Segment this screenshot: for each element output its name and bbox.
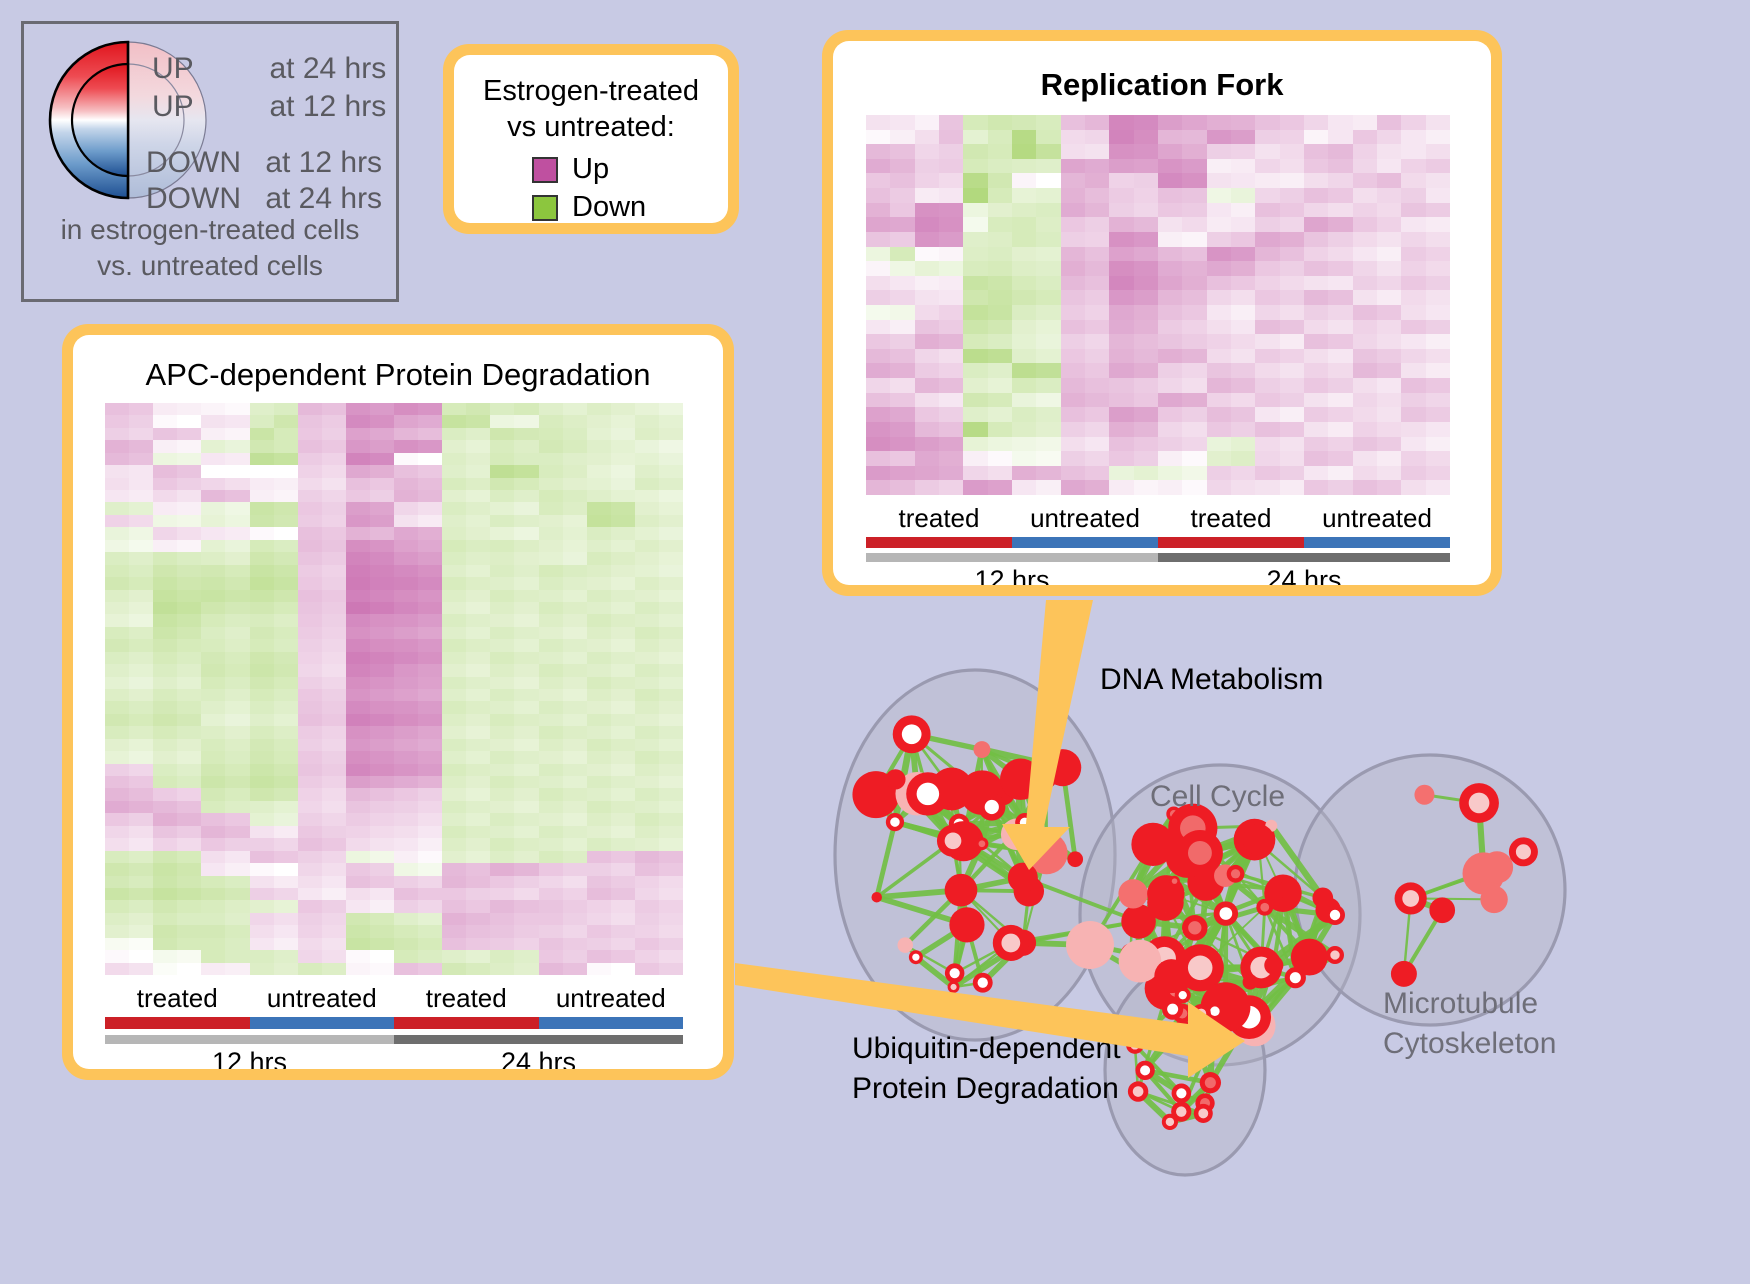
heatmap-cell: [1085, 276, 1109, 291]
heatmap-cell: [963, 188, 987, 203]
heatmap-cell: [1109, 188, 1133, 203]
heatmap-cell: [1328, 173, 1352, 188]
apc-heatmap: [105, 403, 683, 975]
heatmap-cell: [1158, 130, 1182, 145]
heatmap-cell: [490, 614, 514, 626]
heatmap-cell: [963, 247, 987, 262]
heatmap-cell: [225, 963, 249, 975]
heatmap-cell: [250, 428, 274, 440]
network-node[interactable]: [945, 874, 978, 907]
heatmap-cell: [1426, 305, 1450, 320]
heatmap-cell: [129, 776, 153, 788]
network-node[interactable]: [1243, 824, 1274, 855]
heatmap-cell: [201, 900, 225, 912]
heatmap-cell: [394, 739, 418, 751]
heatmap-cell: [988, 349, 1012, 364]
heatmap-cell: [394, 552, 418, 564]
heatmap-cell: [346, 813, 370, 825]
heatmap-cell: [1085, 437, 1109, 452]
heatmap-cell: [466, 627, 490, 639]
heatmap-cell: [418, 876, 442, 888]
heatmap-cell: [490, 739, 514, 751]
heatmap-cell: [1109, 437, 1133, 452]
heatmap-cell: [346, 701, 370, 713]
heatmap-cell: [915, 451, 939, 466]
heatmap-cell: [1231, 159, 1255, 174]
heatmap-cell: [1280, 159, 1304, 174]
heatmap-cell: [201, 577, 225, 589]
heatmap-cell: [201, 950, 225, 962]
network-node-core: [1198, 1108, 1208, 1118]
heatmap-cell: [563, 565, 587, 577]
heatmap-cell: [1158, 437, 1182, 452]
heatmap-cell: [1231, 407, 1255, 422]
heatmap-cell: [635, 677, 659, 689]
heatmap-cell: [1012, 363, 1036, 378]
heatmap-cell: [1304, 349, 1328, 364]
heatmap-cell: [394, 453, 418, 465]
heatmap-cell: [539, 776, 563, 788]
heatmap-cell: [635, 403, 659, 415]
heatmap-cell: [225, 776, 249, 788]
heatmap-cell: [963, 261, 987, 276]
network-node[interactable]: [1044, 749, 1081, 786]
heatmap-cell: [1012, 378, 1036, 393]
heatmap-cell: [1109, 363, 1133, 378]
heatmap-cell: [659, 403, 683, 415]
network-node-core: [1130, 1040, 1139, 1049]
heatmap-cell: [298, 577, 322, 589]
heatmap-cell: [1377, 115, 1401, 130]
network-node[interactable]: [871, 892, 881, 902]
heatmap-cell: [539, 826, 563, 838]
heatmap-cell: [1182, 115, 1206, 130]
heatmap-cell: [635, 527, 659, 539]
heatmap-cell: [659, 764, 683, 776]
heatmap-cell: [659, 577, 683, 589]
network-node-core: [1402, 890, 1419, 907]
heatmap-cell: [1109, 203, 1133, 218]
heatmap-cell: [611, 478, 635, 490]
heatmap-cell: [274, 726, 298, 738]
heatmap-cell: [370, 826, 394, 838]
heatmap-cell: [939, 290, 963, 305]
heatmap-cell: [1158, 349, 1182, 364]
heatmap-cell: [322, 764, 346, 776]
heatmap-cell: [1109, 480, 1133, 495]
heatmap-cell: [1426, 115, 1450, 130]
heatmap-cell: [635, 552, 659, 564]
heatmap-cell: [490, 577, 514, 589]
heatmap-cell: [225, 726, 249, 738]
heatmap-cell: [1255, 305, 1279, 320]
network-node[interactable]: [1067, 851, 1083, 867]
heatmap-cell: [466, 925, 490, 937]
heatmap-cell: [153, 403, 177, 415]
heatmap-cell: [298, 863, 322, 875]
heatmap-cell: [1304, 159, 1328, 174]
heatmap-cell: [274, 863, 298, 875]
heatmap-cell: [1207, 276, 1231, 291]
heatmap-cell: [1012, 334, 1036, 349]
heatmap-cell: [394, 565, 418, 577]
heatmap-cell: [442, 739, 466, 751]
heatmap-cell: [250, 714, 274, 726]
heatmap-cell: [442, 900, 466, 912]
heatmap-cell: [587, 900, 611, 912]
heatmap-cell: [201, 540, 225, 552]
heatmap-cell: [1158, 378, 1182, 393]
heatmap-cell: [250, 515, 274, 527]
heatmap-cell: [274, 925, 298, 937]
heatmap-cell: [1255, 378, 1279, 393]
heatmap-cell: [322, 552, 346, 564]
heatmap-cell: [225, 838, 249, 850]
heatmap-cell: [611, 925, 635, 937]
heatmap-cell: [1036, 144, 1060, 159]
heatmap-cell: [346, 428, 370, 440]
heatmap-cell: [1280, 130, 1304, 145]
heatmap-cell: [225, 403, 249, 415]
heatmap-cell: [1182, 290, 1206, 305]
legend-item-down: Down: [532, 191, 646, 223]
heatmap-cell: [1353, 378, 1377, 393]
network-node[interactable]: [1000, 759, 1041, 800]
heatmap-cell: [1085, 188, 1109, 203]
heatmap-cell: [866, 203, 890, 218]
heatmap-cell: [1231, 480, 1255, 495]
heatmap-cell: [563, 776, 587, 788]
key-time-2: at 12 hrs: [265, 146, 382, 179]
heatmap-cell: [105, 813, 129, 825]
network-node[interactable]: [949, 907, 984, 942]
heatmap-cell: [539, 689, 563, 701]
heatmap-cell: [1426, 480, 1450, 495]
heatmap-cell: [177, 900, 201, 912]
heatmap-cell: [587, 478, 611, 490]
heatmap-cell: [370, 913, 394, 925]
heatmap-cell: [1304, 407, 1328, 422]
heatmap-cell: [539, 515, 563, 527]
legend-swatch-up: [532, 157, 558, 183]
heatmap-cell: [250, 925, 274, 937]
heatmap-cell: [1158, 466, 1182, 481]
heatmap-cell: [1377, 144, 1401, 159]
heatmap-cell: [370, 677, 394, 689]
time-label-0: 12 hrs: [866, 565, 1158, 585]
heatmap-cell: [322, 639, 346, 651]
heatmap-cell: [201, 627, 225, 639]
heatmap-cell: [890, 378, 914, 393]
heatmap-cell: [866, 276, 890, 291]
heatmap-cell: [611, 876, 635, 888]
heatmap-cell: [1280, 437, 1304, 452]
heatmap-cell: [201, 590, 225, 602]
heatmap-cell: [1353, 349, 1377, 364]
heatmap-cell: [563, 938, 587, 950]
heatmap-cell: [370, 764, 394, 776]
heatmap-cell: [635, 540, 659, 552]
heatmap-cell: [539, 540, 563, 552]
heatmap-cell: [939, 144, 963, 159]
heatmap-cell: [1134, 232, 1158, 247]
network-node[interactable]: [1429, 897, 1455, 923]
heatmap-cell: [442, 764, 466, 776]
network-node[interactable]: [1414, 785, 1434, 805]
heatmap-cell: [442, 876, 466, 888]
heatmap-cell: [1012, 349, 1036, 364]
heatmap-cell: [201, 826, 225, 838]
heatmap-cell: [866, 217, 890, 232]
heatmap-cell: [890, 320, 914, 335]
heatmap-cell: [442, 826, 466, 838]
heatmap-cell: [635, 813, 659, 825]
heatmap-cell: [274, 714, 298, 726]
heatmap-cell: [1207, 203, 1231, 218]
heatmap-cell: [1085, 334, 1109, 349]
network-node[interactable]: [1264, 956, 1283, 975]
heatmap-cell: [322, 788, 346, 800]
network-node[interactable]: [1312, 888, 1333, 909]
network-node[interactable]: [1243, 974, 1258, 989]
heatmap-cell: [346, 515, 370, 527]
legend-title-line-2: vs untreated:: [454, 109, 728, 145]
heatmap-cell: [1304, 290, 1328, 305]
heatmap-cell: [539, 788, 563, 800]
heatmap-cell: [1207, 480, 1231, 495]
heatmap-cell: [1182, 320, 1206, 335]
heatmap-cell: [1158, 290, 1182, 305]
heatmap-cell: [346, 876, 370, 888]
heatmap-cell: [201, 403, 225, 415]
heatmap-cell: [563, 801, 587, 813]
heatmap-cell: [105, 963, 129, 975]
heatmap-cell: [1085, 349, 1109, 364]
heatmap-cell: [866, 305, 890, 320]
heatmap-cell: [1353, 261, 1377, 276]
heatmap-cell: [1353, 393, 1377, 408]
heatmap-cell: [394, 764, 418, 776]
heatmap-cell: [1377, 173, 1401, 188]
heatmap-cell: [611, 801, 635, 813]
heatmap-cell: [1426, 393, 1450, 408]
heatmap-cell: [129, 602, 153, 614]
heatmap-cell: [539, 900, 563, 912]
heatmap-cell: [442, 428, 466, 440]
network-node[interactable]: [898, 937, 913, 952]
heatmap-cell: [250, 764, 274, 776]
heatmap-cell: [1061, 363, 1085, 378]
network-node[interactable]: [973, 741, 990, 758]
heatmap-cell: [129, 826, 153, 838]
heatmap-cell: [1158, 276, 1182, 291]
group-label-3: untreated: [539, 983, 684, 1014]
heatmap-cell: [322, 465, 346, 477]
heatmap-cell: [250, 440, 274, 452]
heatmap-cell: [250, 838, 274, 850]
heatmap-cell: [1061, 203, 1085, 218]
heatmap-cell: [153, 677, 177, 689]
heatmap-cell: [418, 627, 442, 639]
network-node[interactable]: [1277, 882, 1293, 898]
heatmap-cell: [1377, 203, 1401, 218]
group-bar-1: [250, 1017, 395, 1029]
heatmap-cell: [539, 863, 563, 875]
heatmap-cell: [177, 739, 201, 751]
heatmap-cell: [1182, 407, 1206, 422]
heatmap-cell: [539, 913, 563, 925]
network-node-core: [1290, 972, 1301, 983]
heatmap-cell: [988, 130, 1012, 145]
heatmap-cell: [274, 888, 298, 900]
heatmap-cell: [322, 714, 346, 726]
heatmap-cell: [298, 440, 322, 452]
heatmap-cell: [1328, 290, 1352, 305]
network-node[interactable]: [1480, 886, 1507, 913]
heatmap-cell: [1061, 247, 1085, 262]
heatmap-cell: [322, 602, 346, 614]
heatmap-cell: [1304, 393, 1328, 408]
heatmap-cell: [539, 590, 563, 602]
network-node[interactable]: [1481, 851, 1513, 883]
heatmap-cell: [394, 440, 418, 452]
heatmap-cell: [370, 515, 394, 527]
heatmap-cell: [659, 565, 683, 577]
heatmap-cell: [963, 393, 987, 408]
heatmap-cell: [274, 913, 298, 925]
heatmap-cell: [177, 428, 201, 440]
heatmap-cell: [466, 515, 490, 527]
heatmap-cell: [611, 552, 635, 564]
heatmap-cell: [514, 552, 538, 564]
heatmap-cell: [1207, 217, 1231, 232]
heatmap-cell: [225, 714, 249, 726]
heatmap-cell: [466, 478, 490, 490]
heatmap-cell: [346, 776, 370, 788]
heatmap-cell: [466, 888, 490, 900]
heatmap-cell: [1061, 480, 1085, 495]
heatmap-cell: [587, 938, 611, 950]
network-node-core: [950, 984, 956, 990]
heatmap-cell: [418, 639, 442, 651]
heatmap-cell: [129, 764, 153, 776]
heatmap-cell: [177, 764, 201, 776]
heatmap-cell: [442, 502, 466, 514]
heatmap-cell: [370, 627, 394, 639]
heatmap-cell: [177, 888, 201, 900]
heatmap-cell: [539, 403, 563, 415]
heatmap-cell: [274, 851, 298, 863]
heatmap-cell: [1182, 393, 1206, 408]
heatmap-cell: [322, 689, 346, 701]
heatmap-cell: [394, 714, 418, 726]
heatmap-cell: [274, 801, 298, 813]
heatmap-cell: [105, 764, 129, 776]
heatmap-cell: [1328, 480, 1352, 495]
heatmap-cell: [466, 838, 490, 850]
heatmap-cell: [659, 527, 683, 539]
heatmap-cell: [1353, 276, 1377, 291]
heatmap-cell: [394, 689, 418, 701]
heatmap-cell: [1134, 173, 1158, 188]
heatmap-cell: [1255, 188, 1279, 203]
heatmap-cell: [418, 925, 442, 937]
heatmap-cell: [1280, 203, 1304, 218]
network-node[interactable]: [1066, 921, 1114, 969]
heatmap-cell: [153, 776, 177, 788]
heatmap-cell: [394, 515, 418, 527]
heatmap-cell: [274, 751, 298, 763]
heatmap-cell: [611, 515, 635, 527]
heatmap-cell: [963, 203, 987, 218]
heatmap-cell: [1134, 188, 1158, 203]
heatmap-cell: [370, 788, 394, 800]
heatmap-cell: [346, 502, 370, 514]
heatmap-cell: [490, 838, 514, 850]
heatmap-cell: [1061, 232, 1085, 247]
heatmap-cell: [539, 552, 563, 564]
heatmap-cell: [177, 552, 201, 564]
heatmap-cell: [250, 490, 274, 502]
heatmap-cell: [1207, 261, 1231, 276]
heatmap-cell: [1304, 320, 1328, 335]
heatmap-cell: [866, 349, 890, 364]
heatmap-cell: [1207, 144, 1231, 159]
heatmap-cell: [1036, 320, 1060, 335]
heatmap-cell: [1377, 422, 1401, 437]
heatmap-cell: [587, 776, 611, 788]
heatmap-cell: [1280, 407, 1304, 422]
heatmap-cell: [635, 577, 659, 589]
network-node[interactable]: [1391, 961, 1417, 987]
heatmap-cell: [915, 130, 939, 145]
heatmap-cell: [177, 826, 201, 838]
heatmap-cell: [1061, 437, 1085, 452]
heatmap-cell: [563, 764, 587, 776]
heatmap-cell: [890, 393, 914, 408]
heatmap-cell: [988, 334, 1012, 349]
heatmap-cell: [394, 465, 418, 477]
heatmap-cell: [442, 577, 466, 589]
heatmap-cell: [1207, 247, 1231, 262]
heatmap-cell: [915, 422, 939, 437]
heatmap-cell: [274, 590, 298, 602]
heatmap-cell: [635, 739, 659, 751]
heatmap-cell: [1377, 480, 1401, 495]
heatmap-cell: [370, 714, 394, 726]
heatmap-cell: [963, 115, 987, 130]
network-node[interactable]: [1008, 863, 1038, 893]
heatmap-cell: [1426, 130, 1450, 145]
heatmap-cell: [1328, 144, 1352, 159]
key-row-3: DOWN at 24 hrs: [146, 182, 382, 216]
heatmap-cell: [514, 490, 538, 502]
apc-group-bars: [105, 1017, 683, 1029]
heatmap-cell: [1304, 437, 1328, 452]
heatmap-cell: [963, 276, 987, 291]
heatmap-cell: [514, 950, 538, 962]
network-node[interactable]: [1118, 879, 1147, 908]
network-node[interactable]: [885, 769, 905, 789]
heatmap-cell: [250, 527, 274, 539]
heatmap-cell: [250, 950, 274, 962]
heatmap-cell: [1255, 363, 1279, 378]
heatmap-cell: [587, 577, 611, 589]
heatmap-cell: [129, 726, 153, 738]
heatmap-cell: [418, 515, 442, 527]
heatmap-cell: [250, 478, 274, 490]
heatmap-cell: [370, 689, 394, 701]
